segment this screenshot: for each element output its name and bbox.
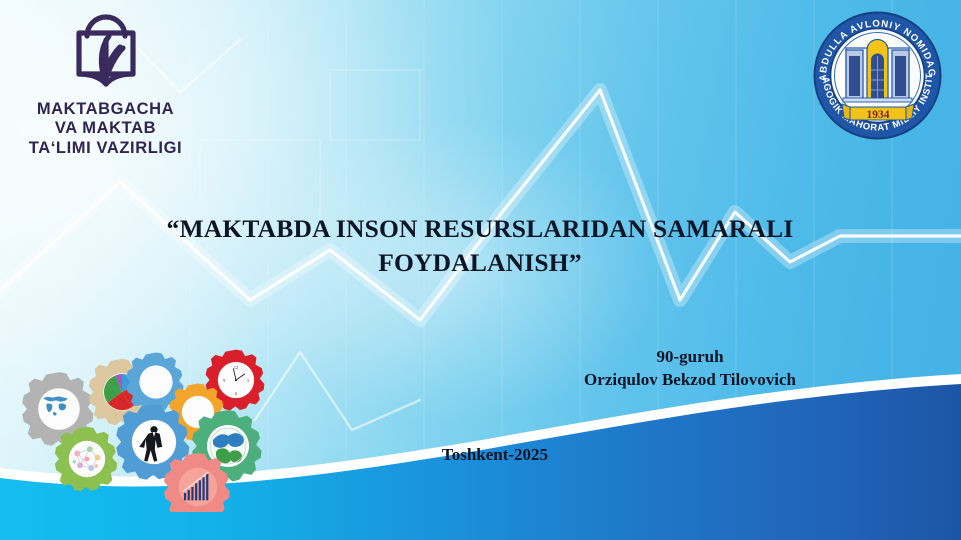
- svg-text:12: 12: [234, 365, 239, 370]
- ministry-logo-text: MAKTABGACHA VA MAKTAB TA‘LIMI VAZIRLIGI: [8, 100, 203, 158]
- gear-network: [55, 427, 117, 491]
- presenter-block: 90-guruh Orziqulov Bekzod Tilovovich: [480, 345, 900, 392]
- presenter-name: Orziqulov Bekzod Tilovovich: [480, 368, 900, 391]
- ministry-logo: MAKTABGACHA VA MAKTAB TA‘LIMI VAZIRLIGI: [8, 14, 203, 158]
- svg-text:1934: 1934: [867, 109, 890, 121]
- ministry-line-1: MAKTABGACHA: [8, 100, 203, 119]
- city-year: Toshkent-2025: [330, 445, 660, 465]
- institute-seal-icon: ABDULLA AVLONIY NOMIDAGI PEDAGOGIK MAHOR…: [810, 8, 945, 143]
- presenter-group: 90-guruh: [480, 345, 900, 368]
- page-title: “MAKTABDA INSON RESURSLARIDAN SAMARALI F…: [150, 212, 810, 280]
- open-book-leaf-icon: [63, 14, 149, 94]
- ministry-line-2: VA MAKTAB: [8, 119, 203, 138]
- ministry-line-3: TA‘LIMI VAZIRLIGI: [8, 139, 203, 158]
- title-line-2: FOYDALANISH”: [150, 246, 810, 280]
- presentation-slide: MAKTABGACHA VA MAKTAB TA‘LIMI VAZIRLIGI …: [0, 0, 961, 540]
- gear-bar-chart: [164, 453, 230, 512]
- gears-infographic: 12 3 6 9: [2, 330, 302, 512]
- title-line-1: “MAKTABDA INSON RESURSLARIDAN SAMARALI: [150, 212, 810, 246]
